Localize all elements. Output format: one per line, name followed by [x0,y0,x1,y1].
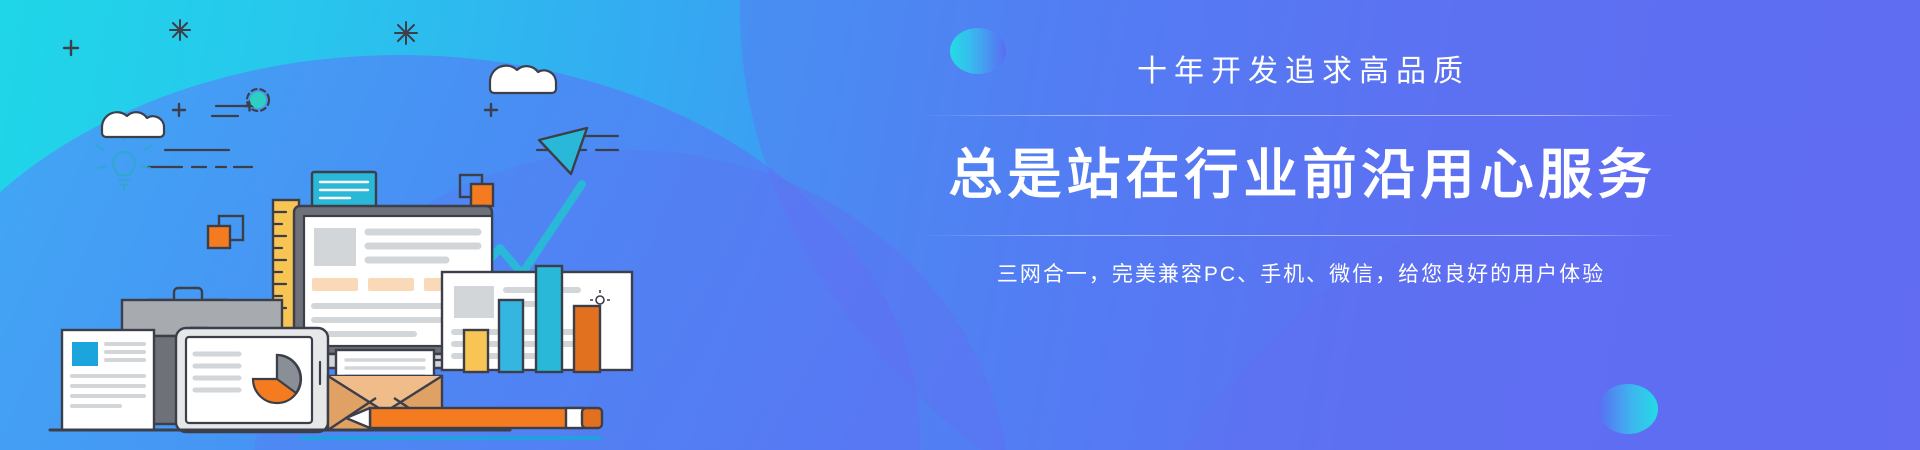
pencil-icon [346,408,602,428]
ground-line [50,430,600,438]
hero-subline: 三网合一，完美兼容PC、手机、微信，给您良好的用户体验 [860,260,1740,289]
document-icon [62,330,154,430]
square-overlap-icon [460,175,493,206]
plus-icon [485,104,497,116]
lightbulb-icon [97,132,151,190]
decorative-ellipse-bottom [1598,384,1658,434]
plus-icon [64,41,78,55]
square-overlap-icon [208,216,243,248]
business-analytics-illustration [40,10,660,440]
divider-top [920,115,1680,116]
hero-headline: 总是站在行业前沿用心服务 [860,142,1740,210]
report-bar-chart-icon [442,266,632,372]
hero-tagline: 十年开发追求高品质 [860,52,1740,93]
hero-copy: 十年开发追求高品质 总是站在行业前沿用心服务 三网合一，完美兼容PC、手机、微信… [860,52,1740,289]
dashed-line-icon [148,150,252,167]
cloud-icon [490,66,556,93]
divider-bottom [920,235,1680,236]
dashed-line-icon [212,106,250,116]
cloud-icon [102,112,164,137]
starburst-icon [170,20,190,40]
plus-icon [173,104,185,116]
tablet-pie-chart-icon [176,328,328,432]
hero-banner: 十年开发追求高品质 总是站在行业前沿用心服务 三网合一，完美兼容PC、手机、微信… [0,0,1920,450]
starburst-icon [395,22,417,44]
dashed-circle-icon [250,92,266,108]
